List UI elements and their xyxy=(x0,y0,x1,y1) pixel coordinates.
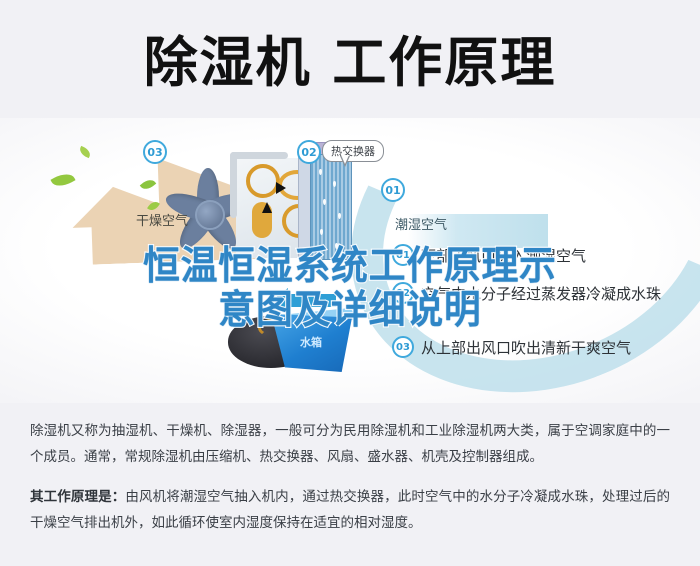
step-item-02: 02 空气中水分子经过蒸发器冷凝成水珠 xyxy=(392,282,661,304)
step-item-01: 01 下部进风口吸入潮湿空气 xyxy=(392,244,586,266)
paragraph-2: 其工作原理是：由风机将潮湿空气抽入机内，通过热交换器，此时空气中的水分子冷凝成水… xyxy=(30,484,670,536)
step-text-01: 下部进风口吸入潮湿空气 xyxy=(421,245,586,266)
pipe-icon xyxy=(230,152,288,159)
heat-exchanger-fins xyxy=(310,154,352,260)
label-dry-air: 干燥空气 xyxy=(136,210,188,229)
water-tank-label: 水箱 xyxy=(300,334,322,350)
page-title-text: 除湿机 工作原理 xyxy=(144,36,557,90)
step-text-03: 从上部出风口吹出清新干爽空气 xyxy=(421,337,631,358)
badge-dry-air: 03 xyxy=(143,140,167,164)
coil-icon xyxy=(246,164,280,198)
step-badge-01: 01 xyxy=(392,244,414,266)
intake-arrow-icon xyxy=(284,294,336,307)
badge-humid-air: 01 xyxy=(381,178,405,202)
step-text-02: 空气中水分子经过蒸发器冷凝成水珠 xyxy=(421,283,661,304)
step-item-03: 03 从上部出风口吹出清新干爽空气 xyxy=(392,336,631,358)
paragraph-2-text: 由风机将潮湿空气抽入机内，通过热交换器，此时空气中的水分子冷凝成水珠，处理过后的… xyxy=(30,489,670,531)
dehumidifier-diagram: 水箱 03 02 01 热交换器 干燥空气 潮湿空气 01 下部进风口吸入潮湿空… xyxy=(0,118,700,403)
flow-arrow-right-icon xyxy=(276,182,286,194)
pipe-icon xyxy=(230,152,237,218)
heat-exchanger-callout: 热交换器 xyxy=(322,140,384,162)
paragraph-2-lead: 其工作原理是： xyxy=(30,489,125,505)
badge-heat-exchanger: 02 xyxy=(297,140,321,164)
paragraph-1: 除湿机又称为抽湿机、干燥机、除湿器，一般可分为民用除湿机和工业除湿机两大类，属于… xyxy=(30,418,670,470)
callout-pointer-icon xyxy=(340,156,350,167)
step-badge-03: 03 xyxy=(392,336,414,358)
page-title: 除湿机 工作原理 xyxy=(0,18,700,108)
step-badge-02: 02 xyxy=(392,282,414,304)
flow-arrow-up-icon xyxy=(262,202,272,213)
infographic-page: 除湿机 工作原理 xyxy=(0,0,700,566)
article-body: 除湿机又称为抽湿机、干燥机、除湿器，一般可分为民用除湿机和工业除湿机两大类，属于… xyxy=(30,418,670,550)
label-humid-air: 潮湿空气 xyxy=(395,214,447,233)
